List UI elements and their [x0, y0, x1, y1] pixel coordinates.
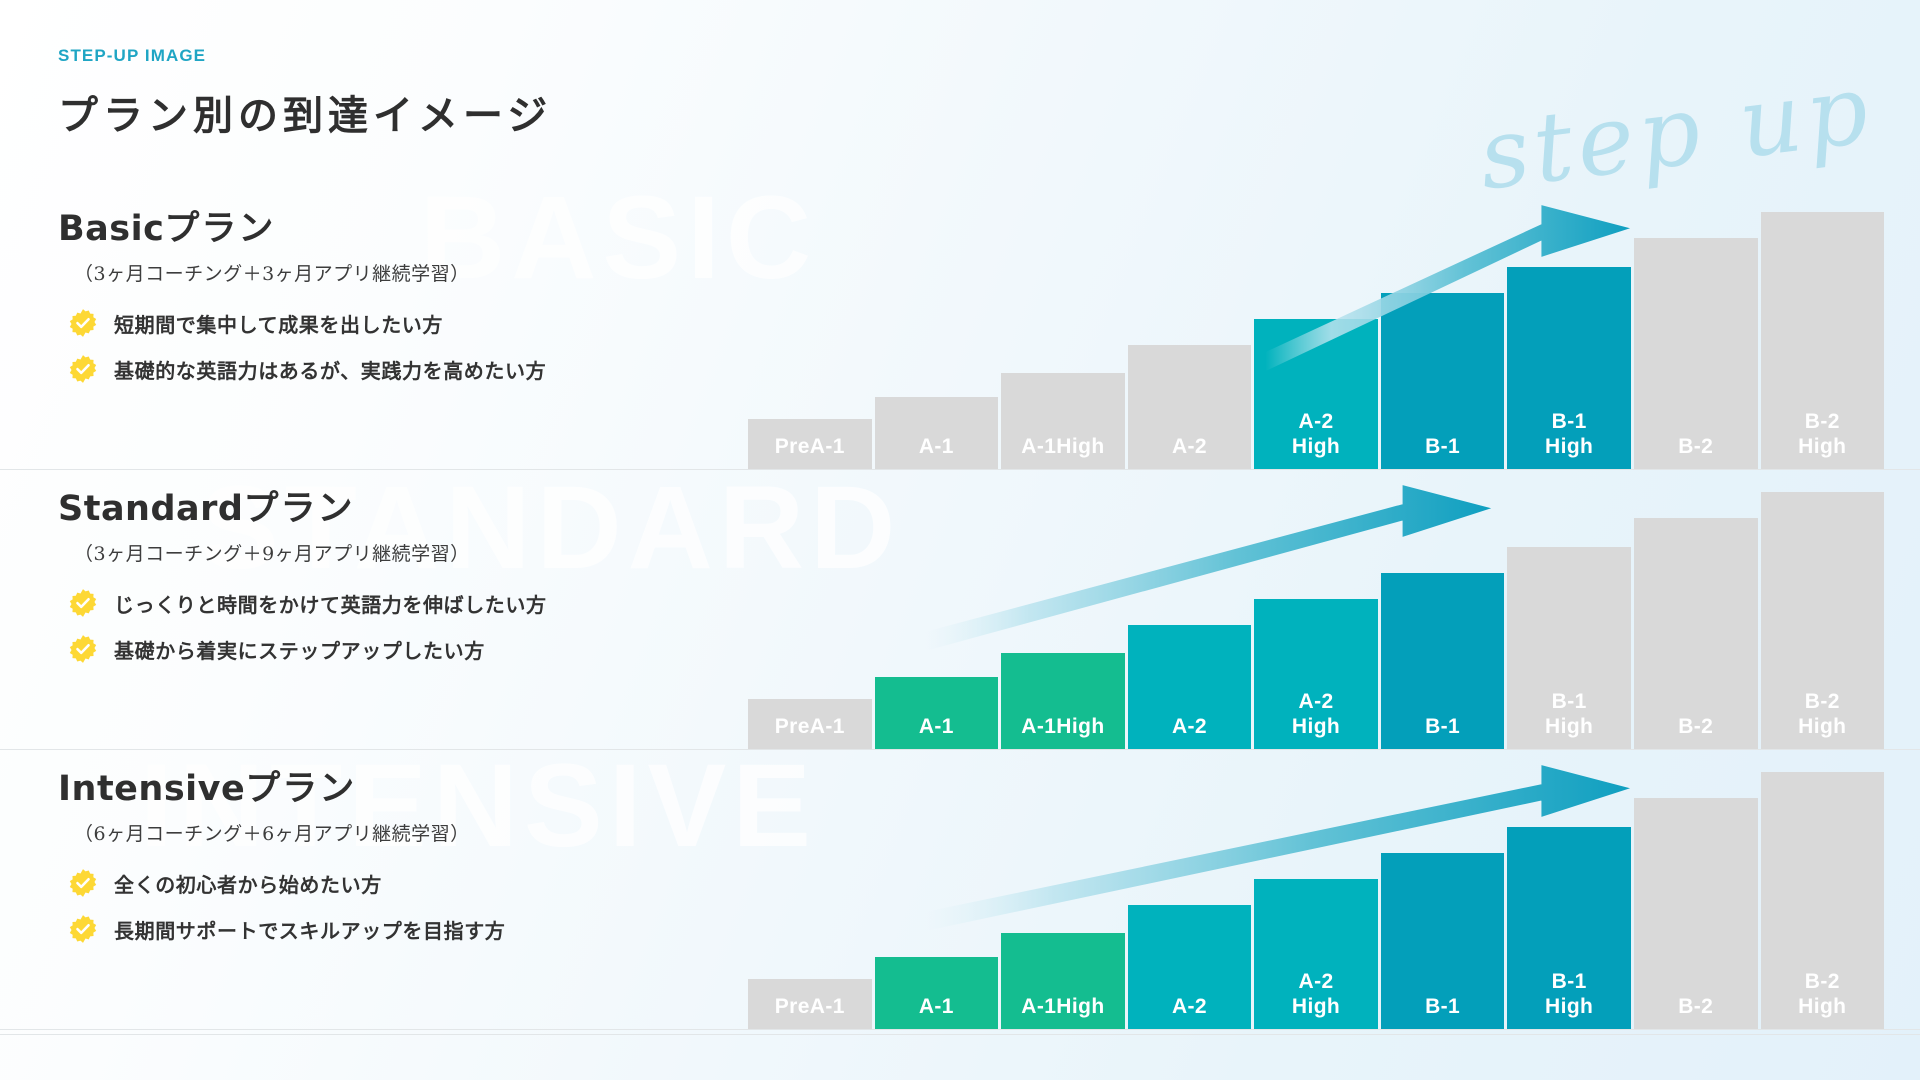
bar-label-line: A-1High [1021, 715, 1104, 740]
bar-a-2[interactable]: A-2 [1128, 345, 1252, 469]
bar-prea-1[interactable]: PreA-1 [748, 699, 872, 749]
check-badge-icon [68, 914, 98, 944]
bar-label-line: A-2 [1172, 995, 1207, 1020]
bar-b-1[interactable]: B-1 [1381, 573, 1505, 749]
bar-label-line: B-1 [1552, 690, 1587, 715]
bar-b-1-high[interactable]: B-1High [1507, 827, 1631, 1029]
bar-label-line: B-1 [1425, 995, 1460, 1020]
check-badge-icon [68, 308, 98, 338]
page-title: プラン別の到達イメージ [58, 83, 552, 141]
feature-bullet-text: 基礎的な英語力はあるが、実践力を高めたい方 [114, 355, 546, 384]
bar-label-line: A-2 [1299, 410, 1334, 435]
level-bar-chart-standard: PreA-1A-1A-1HighA-2A-2HighB-1B-1HighB-2B… [748, 477, 1884, 749]
feature-bullet-text: 全くの初心者から始めたい方 [114, 869, 382, 898]
bar-label-line: High [1545, 435, 1593, 460]
bar-label-line: B-1 [1552, 410, 1587, 435]
bar-a-2-high[interactable]: A-2High [1254, 599, 1378, 749]
feature-bullet-text: 短期間で集中して成果を出したい方 [114, 309, 443, 338]
feature-bullet: 全くの初心者から始めたい方 [68, 868, 698, 898]
bar-label-line: High [1798, 995, 1846, 1020]
bar-a-1[interactable]: A-1 [875, 677, 999, 749]
bar-label-line: A-1 [919, 435, 954, 460]
check-badge-icon [68, 588, 98, 618]
plan-title-jp: プラン [243, 489, 354, 529]
plan-title-standard: Standardプラン [58, 480, 698, 531]
bar-label-line: A-1 [919, 995, 954, 1020]
plan-subtitle-standard: （3ヶ月コーチング＋9ヶ月アプリ継続学習） [74, 539, 698, 566]
plan-title-jp: プラン [164, 209, 275, 249]
feature-bullet: じっくりと時間をかけて英語力を伸ばしたい方 [68, 588, 698, 618]
bar-a-2[interactable]: A-2 [1128, 625, 1252, 749]
bar-prea-1[interactable]: PreA-1 [748, 419, 872, 469]
plan-subtitle-intensive: （6ヶ月コーチング＋6ヶ月アプリ継続学習） [74, 819, 698, 846]
bar-label-line: B-2 [1805, 690, 1840, 715]
plan-title-basic: Basicプラン [58, 200, 698, 251]
bar-label-line: A-2 [1172, 435, 1207, 460]
plan-section-standard: STANDARD Standardプラン （3ヶ月コーチング＋9ヶ月アプリ継続学… [0, 470, 1920, 750]
bar-a-2-high[interactable]: A-2High [1254, 879, 1378, 1029]
plan-bullets-standard: じっくりと時間をかけて英語力を伸ばしたい方 基礎から着実にステップアップしたい方 [58, 588, 698, 664]
plan-bullets-intensive: 全くの初心者から始めたい方 長期間サポートでスキルアップを目指す方 [58, 868, 698, 944]
bar-label-line: A-1High [1021, 995, 1104, 1020]
bar-a-1[interactable]: A-1 [875, 397, 999, 469]
plan-title-en: Intensive [58, 769, 245, 809]
plan-section-basic: BASIC Basicプラン （3ヶ月コーチング＋3ヶ月アプリ継続学習） 短期間… [0, 190, 1920, 470]
feature-bullet-text: 基礎から着実にステップアップしたい方 [114, 635, 485, 664]
level-bar-chart-basic: PreA-1A-1A-1HighA-2A-2HighB-1B-1HighB-2B… [748, 197, 1884, 469]
bar-b-2[interactable]: B-2 [1634, 238, 1758, 469]
bar-label-line: B-2 [1805, 970, 1840, 995]
feature-bullet-text: 長期間サポートでスキルアップを目指す方 [114, 915, 505, 944]
plan-title-en: Standard [58, 489, 243, 529]
bar-label-line: A-2 [1299, 690, 1334, 715]
bar-prea-1[interactable]: PreA-1 [748, 979, 872, 1029]
bar-label-line: A-2 [1172, 715, 1207, 740]
bar-label-line: PreA-1 [775, 435, 845, 460]
bar-b-2[interactable]: B-2 [1634, 518, 1758, 749]
bar-label-line: A-2 [1299, 970, 1334, 995]
bottom-divider [0, 1034, 1920, 1035]
bar-b-1-high[interactable]: B-1High [1507, 267, 1631, 469]
plan-section-intensive: INTENSIVE Intensiveプラン （6ヶ月コーチング＋6ヶ月アプリ継… [0, 750, 1920, 1030]
bar-label-line: B-2 [1678, 715, 1713, 740]
bar-b-2[interactable]: B-2 [1634, 798, 1758, 1029]
bar-label-line: High [1292, 995, 1340, 1020]
plan-title-intensive: Intensiveプラン [58, 760, 698, 811]
bar-label-line: B-2 [1678, 435, 1713, 460]
check-badge-icon [68, 634, 98, 664]
bar-label-line: High [1292, 435, 1340, 460]
step-up-script-logo: step up [1473, 52, 1879, 211]
bar-label-line: A-1High [1021, 435, 1104, 460]
feature-bullet: 短期間で集中して成果を出したい方 [68, 308, 698, 338]
plan-copy-basic: Basicプラン （3ヶ月コーチング＋3ヶ月アプリ継続学習） 短期間で集中して成… [58, 200, 698, 400]
plan-sections: BASIC Basicプラン （3ヶ月コーチング＋3ヶ月アプリ継続学習） 短期間… [0, 190, 1920, 1030]
bar-b-1[interactable]: B-1 [1381, 293, 1505, 469]
feature-bullet-text: じっくりと時間をかけて英語力を伸ばしたい方 [114, 589, 547, 618]
feature-bullet: 長期間サポートでスキルアップを目指す方 [68, 914, 698, 944]
bar-label-line: PreA-1 [775, 995, 845, 1020]
bar-label-line: B-1 [1552, 970, 1587, 995]
level-bar-chart-intensive: PreA-1A-1A-1HighA-2A-2HighB-1B-1HighB-2B… [748, 757, 1884, 1029]
bar-a-1high[interactable]: A-1High [1001, 373, 1125, 469]
eyebrow-label: STEP-UP IMAGE [58, 46, 552, 66]
bar-label-line: B-2 [1678, 995, 1713, 1020]
bar-a-2[interactable]: A-2 [1128, 905, 1252, 1029]
bar-b-2-high[interactable]: B-2High [1761, 772, 1885, 1029]
plan-bullets-basic: 短期間で集中して成果を出したい方 基礎的な英語力はあるが、実践力を高めたい方 [58, 308, 698, 384]
page-header: STEP-UP IMAGE プラン別の到達イメージ [58, 46, 552, 141]
plan-subtitle-basic: （3ヶ月コーチング＋3ヶ月アプリ継続学習） [74, 259, 698, 286]
bar-b-1[interactable]: B-1 [1381, 853, 1505, 1029]
bar-b-2-high[interactable]: B-2High [1761, 212, 1885, 469]
bar-label-line: High [1292, 715, 1340, 740]
check-badge-icon [68, 868, 98, 898]
bar-label-line: B-2 [1805, 410, 1840, 435]
feature-bullet: 基礎から着実にステップアップしたい方 [68, 634, 698, 664]
plan-copy-standard: Standardプラン （3ヶ月コーチング＋9ヶ月アプリ継続学習） じっくりと時… [58, 480, 698, 680]
plan-title-en: Basic [58, 209, 164, 249]
plan-title-jp: プラン [245, 769, 356, 809]
bar-a-2-high[interactable]: A-2High [1254, 319, 1378, 469]
bar-a-1high[interactable]: A-1High [1001, 933, 1125, 1029]
bar-b-2-high[interactable]: B-2High [1761, 492, 1885, 749]
bar-label-line: B-1 [1425, 435, 1460, 460]
bar-label-line: High [1798, 715, 1846, 740]
feature-bullet: 基礎的な英語力はあるが、実践力を高めたい方 [68, 354, 698, 384]
bar-label-line: A-1 [919, 715, 954, 740]
bar-b-1-high[interactable]: B-1High [1507, 547, 1631, 749]
bar-label-line: High [1545, 715, 1593, 740]
plan-copy-intensive: Intensiveプラン （6ヶ月コーチング＋6ヶ月アプリ継続学習） 全くの初心… [58, 760, 698, 960]
bar-label-line: High [1798, 435, 1846, 460]
bar-label-line: PreA-1 [775, 715, 845, 740]
check-badge-icon [68, 354, 98, 384]
bar-a-1high[interactable]: A-1High [1001, 653, 1125, 749]
bar-label-line: High [1545, 995, 1593, 1020]
bar-a-1[interactable]: A-1 [875, 957, 999, 1029]
bar-label-line: B-1 [1425, 715, 1460, 740]
